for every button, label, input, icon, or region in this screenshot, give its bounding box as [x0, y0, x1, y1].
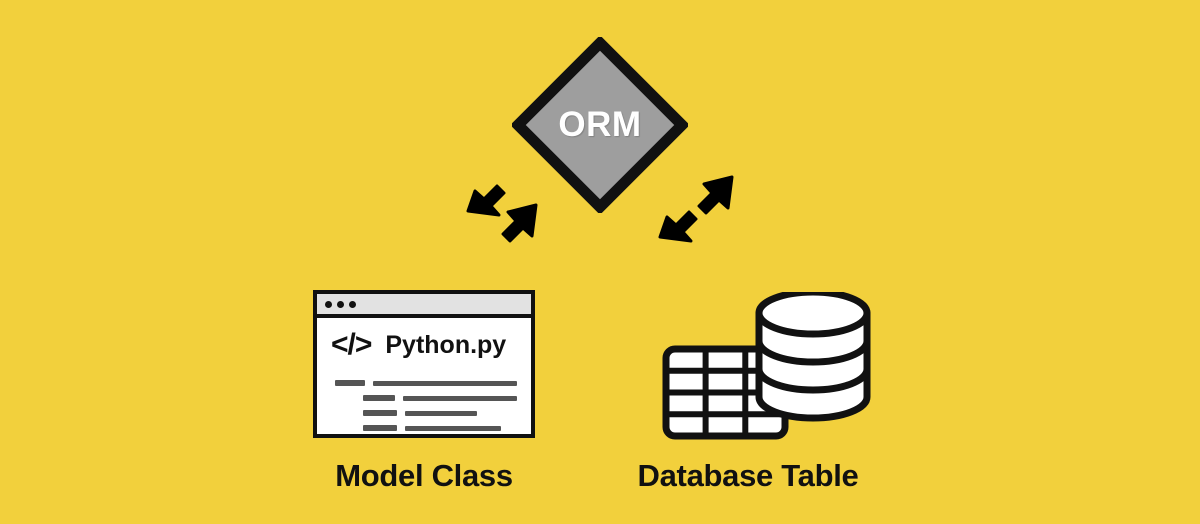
file-name-label: Python.py: [385, 333, 506, 358]
window-titlebar: [317, 294, 531, 318]
code-chip: [363, 425, 397, 431]
code-placeholder-lines: [317, 380, 531, 431]
code-brackets-icon: </>: [331, 330, 371, 360]
code-line-row: [335, 425, 517, 431]
code-line-row: [335, 380, 517, 386]
code-line-row: [335, 395, 517, 401]
code-bar: [403, 396, 517, 401]
connector-arrows-right: [658, 175, 738, 247]
window-dot-icon: [337, 301, 344, 308]
connector-arrows-left: [462, 175, 542, 247]
arrow-up-right: [699, 177, 732, 213]
arrow-pair-right-icon: [658, 175, 738, 247]
diagram-canvas: ORM: [0, 0, 1200, 524]
arrow-up-right: [503, 205, 536, 241]
window-heading: </> Python.py: [331, 330, 531, 360]
caption-database-table: Database Table: [628, 458, 868, 494]
code-line-row: [335, 410, 517, 416]
caption-model-class: Model Class: [313, 458, 535, 494]
code-chip: [363, 395, 395, 401]
code-chip: [335, 380, 365, 386]
arrow-down-left: [660, 212, 696, 241]
code-bar: [405, 411, 477, 416]
window-dot-icon: [325, 301, 332, 308]
arrow-pair-left-icon: [462, 175, 542, 247]
database-graphic[interactable]: [660, 292, 875, 442]
model-class-window[interactable]: </> Python.py: [313, 290, 535, 438]
code-chip: [363, 410, 397, 416]
database-icon: [660, 292, 875, 442]
arrow-down-left: [468, 186, 504, 215]
window-dot-icon: [349, 301, 356, 308]
code-bar: [405, 426, 501, 431]
database-cylinder-icon: [759, 292, 867, 418]
code-bar: [373, 381, 517, 386]
